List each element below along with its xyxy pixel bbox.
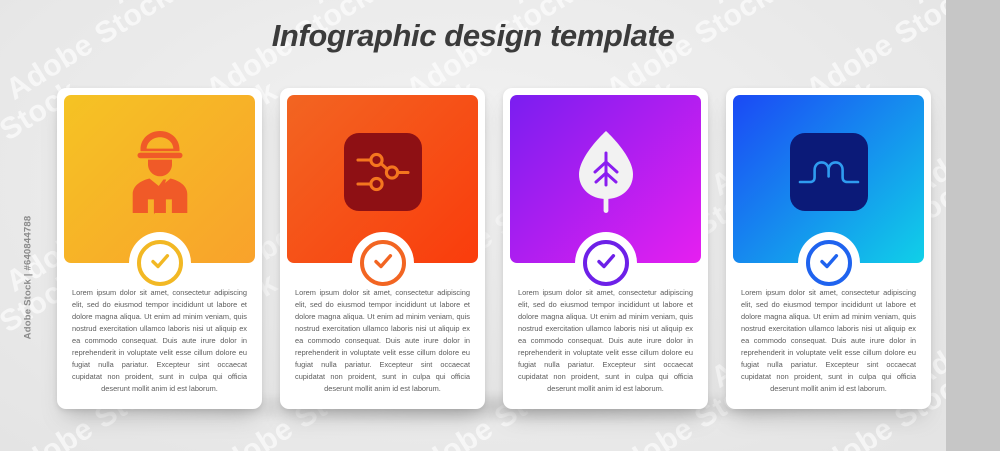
card-color-panel [510, 95, 701, 263]
completion-check-badge[interactable] [806, 240, 852, 286]
card-color-panel [733, 95, 924, 263]
stock-attribution-label: Adobe Stock | #640844788 [23, 193, 34, 363]
check-icon [594, 249, 618, 278]
infographic-card[interactable]: Lorem ipsum dolor sit amet, consectetur … [503, 88, 708, 409]
icon-plate [790, 133, 868, 211]
check-ring [806, 240, 852, 286]
preview-border-band [946, 0, 1000, 451]
infographic-card[interactable]: Lorem ipsum dolor sit amet, consectetur … [280, 88, 485, 409]
completion-check-badge[interactable] [583, 240, 629, 286]
electrical-switch-circuit-icon [287, 95, 478, 263]
watermark-text: Adobe Stock [305, 0, 483, 11]
watermark-text: Adobe Stock [0, 0, 84, 11]
electrician-worker-icon [64, 95, 255, 263]
completion-check-badge[interactable] [137, 240, 183, 286]
watermark-text: Adobe Stock [105, 0, 283, 11]
icon-plate [344, 133, 422, 211]
check-icon [817, 249, 841, 278]
infographic-card[interactable]: Lorem ipsum dolor sit amet, consectetur … [726, 88, 931, 409]
infographic-card-row: Lorem ipsum dolor sit amet, consectetur … [57, 88, 945, 409]
inductor-coil-icon [733, 95, 924, 263]
check-icon [148, 249, 172, 278]
card-color-panel [287, 95, 478, 263]
leaf-icon [510, 95, 701, 263]
infographic-canvas: Adobe StockAdobe StockAdobe StockAdobe S… [0, 0, 1000, 451]
page-title: Infographic design template [0, 18, 946, 54]
check-ring [137, 240, 183, 286]
completion-check-badge[interactable] [360, 240, 406, 286]
watermark-text: Adobe Stock [505, 0, 683, 11]
watermark-text: Adobe Stock [705, 0, 883, 11]
card-color-panel [64, 95, 255, 263]
infographic-card[interactable]: Lorem ipsum dolor sit amet, consectetur … [57, 88, 262, 409]
check-ring [583, 240, 629, 286]
check-icon [371, 249, 395, 278]
check-ring [360, 240, 406, 286]
